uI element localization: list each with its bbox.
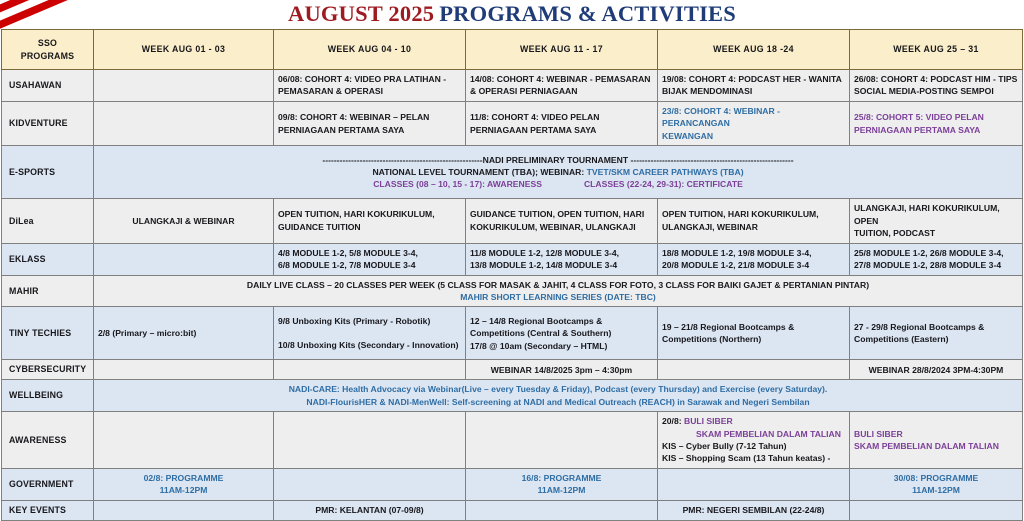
esports-classes-certificate: CLASSES (22-24, 29-31): CERTIFICATE: [584, 178, 743, 190]
cell-government-week1: 02/8: PROGRAMME 11AM-12PM: [94, 468, 274, 500]
cell-key-events-week5: [850, 500, 1023, 520]
cell-key-events-week2: PMR: KELANTAN (07-09/8): [274, 500, 466, 520]
cell-cybersecurity-week3: WEBINAR 14/8/2025 3pm – 4:30pm: [466, 360, 658, 380]
row-label-awareness: AWARENESS: [2, 412, 94, 469]
row-label-dilea: DiLea: [2, 199, 94, 243]
row-label-usahawan: USAHAWAN: [2, 70, 94, 102]
table-row-eklass: EKLASS 4/8 MODULE 1-2, 5/8 MODULE 3-4, 6…: [2, 243, 1023, 275]
page-title-month: AUGUST 2025: [288, 1, 434, 26]
cell-cybersecurity-week4: [658, 360, 850, 380]
wellbeing-nadi-care: NADI-CARE: Health Advocacy via Webinar(L…: [98, 383, 1018, 395]
cell-tiny-techies-week2: 9/8 Unboxing Kits (Primary - Robotik) 10…: [274, 307, 466, 360]
awareness-date-20-8: 20/8:: [662, 416, 684, 426]
cell-eklass-week4: 18/8 MODULE 1-2, 19/8 MODULE 3-4, 20/8 M…: [658, 243, 850, 275]
page-title-suffix: PROGRAMS & ACTIVITIES: [439, 1, 736, 26]
cell-eklass-week1: [94, 243, 274, 275]
cell-awareness-week3: [466, 412, 658, 469]
table-row-tiny-techies: TINY TECHIES 2/8 (Primary – micro:bit) 9…: [2, 307, 1023, 360]
cell-key-events-week1: [94, 500, 274, 520]
cell-usahawan-week3: 14/08: COHORT 4: WEBINAR - PEMASARAN & O…: [466, 70, 658, 102]
cell-awareness-week5: BULI SIBER SKAM PEMBELIAN DALAM TALIAN: [850, 412, 1023, 469]
cell-dilea-week4: OPEN TUITION, HARI KOKURIKULUM, ULANGKAJ…: [658, 199, 850, 243]
cell-tiny-techies-week1: 2/8 (Primary – micro:bit): [94, 307, 274, 360]
table-row-mahir: MAHIR DAILY LIVE CLASS – 20 CLASSES PER …: [2, 275, 1023, 307]
cell-kidventure-week3: 11/8: COHORT 4: VIDEO PELAN PERNIAGAAN P…: [466, 101, 658, 145]
row-label-wellbeing: WELLBEING: [2, 380, 94, 412]
cell-kidventure-week1: [94, 101, 274, 145]
table-row-esports: E-SPORTS -------------------------------…: [2, 146, 1023, 199]
column-header-week-2: WEEK AUG 04 - 10: [274, 30, 466, 70]
table-row-kidventure: KIDVENTURE 09/8: COHORT 4: WEBINAR – PEL…: [2, 101, 1023, 145]
cell-tiny-techies-week3: 12 – 14/8 Regional Bootcamps & Competiti…: [466, 307, 658, 360]
row-label-mahir: MAHIR: [2, 275, 94, 307]
row-label-tiny-techies: TINY TECHIES: [2, 307, 94, 360]
cell-eklass-week3: 11/8 MODULE 1-2, 12/8 MODULE 3-4, 13/8 M…: [466, 243, 658, 275]
page-title-bar: AUGUST 2025PROGRAMS & ACTIVITIES: [0, 0, 1024, 28]
table-row-key-events: KEY EVENTS PMR: KELANTAN (07-09/8) PMR: …: [2, 500, 1023, 520]
cell-key-events-week3: [466, 500, 658, 520]
cell-awareness-week2: [274, 412, 466, 469]
cell-mahir-all-weeks: DAILY LIVE CLASS – 20 CLASSES PER WEEK (…: [94, 275, 1023, 307]
column-header-week-5: WEEK AUG 25 – 31: [850, 30, 1023, 70]
cell-awareness-week1: [94, 412, 274, 469]
awareness-kis-cyber-bully: KIS – Cyber Bully (7-12 Tahun): [662, 440, 845, 452]
table-row-government: GOVERNMENT 02/8: PROGRAMME 11AM-12PM 16/…: [2, 468, 1023, 500]
table-row-cybersecurity: CYBERSECURITY WEBINAR 14/8/2025 3pm – 4:…: [2, 360, 1023, 380]
awareness-buli-siber: BULI SIBER: [684, 416, 733, 426]
table-row-awareness: AWARENESS 20/8: BULI SIBER SKAM PEMBELIA…: [2, 412, 1023, 469]
cell-dilea-week2: OPEN TUITION, HARI KOKURIKULUM, GUIDANCE…: [274, 199, 466, 243]
row-label-cybersecurity: CYBERSECURITY: [2, 360, 94, 380]
schedule-table: SSO PROGRAMS WEEK AUG 01 - 03 WEEK AUG 0…: [1, 29, 1023, 521]
cell-cybersecurity-week5: WEBINAR 28/8/2024 3PM-4:30PM: [850, 360, 1023, 380]
row-label-key-events: KEY EVENTS: [2, 500, 94, 520]
column-header-week-3: WEEK AUG 11 - 17: [466, 30, 658, 70]
cell-eklass-week5: 25/8 MODULE 1-2, 26/8 MODULE 3-4, 27/8 M…: [850, 243, 1023, 275]
cell-usahawan-week5: 26/08: COHORT 4: PODCAST HIM - TIPS SOCI…: [850, 70, 1023, 102]
page-title: AUGUST 2025PROGRAMS & ACTIVITIES: [288, 3, 736, 26]
row-label-kidventure: KIDVENTURE: [2, 101, 94, 145]
column-header-week-4: WEEK AUG 18 -24: [658, 30, 850, 70]
cell-usahawan-week1: [94, 70, 274, 102]
wellbeing-nadi-flourisher: NADI-FlourisHER & NADI-MenWell: Self-scr…: [98, 396, 1018, 408]
cell-dilea-week5: ULANGKAJI, HARI KOKURIKULUM, OPEN TUITIO…: [850, 199, 1023, 243]
table-row-usahawan: USAHAWAN 06/08: COHORT 4: VIDEO PRA LATI…: [2, 70, 1023, 102]
column-header-week-1: WEEK AUG 01 - 03: [94, 30, 274, 70]
cell-government-week3: 16/8: PROGRAMME 11AM-12PM: [466, 468, 658, 500]
cell-wellbeing-all-weeks: NADI-CARE: Health Advocacy via Webinar(L…: [94, 380, 1023, 412]
cell-government-week2: [274, 468, 466, 500]
cell-esports-all-weeks: ----------------------------------------…: [94, 146, 1023, 199]
cell-kidventure-week2: 09/8: COHORT 4: WEBINAR – PELAN PERNIAGA…: [274, 101, 466, 145]
cell-awareness-week4: 20/8: BULI SIBER SKAM PEMBELIAN DALAM TA…: [658, 412, 850, 469]
awareness-skam-pembelian: SKAM PEMBELIAN DALAM TALIAN: [662, 428, 845, 440]
cell-kidventure-week5: 25/8: COHORT 5: VIDEO PELAN PERNIAGAAN P…: [850, 101, 1023, 145]
cell-cybersecurity-week1: [94, 360, 274, 380]
table-header-row: SSO PROGRAMS WEEK AUG 01 - 03 WEEK AUG 0…: [2, 30, 1023, 70]
cell-dilea-week1: ULANGKAJI & WEBINAR: [94, 199, 274, 243]
cell-usahawan-week2: 06/08: COHORT 4: VIDEO PRA LATIHAN - PEM…: [274, 70, 466, 102]
row-label-government: GOVERNMENT: [2, 468, 94, 500]
cell-dilea-week3: GUIDANCE TUITION, OPEN TUITION, HARI KOK…: [466, 199, 658, 243]
cell-eklass-week2: 4/8 MODULE 1-2, 5/8 MODULE 3-4, 6/8 MODU…: [274, 243, 466, 275]
esports-tvet-link: TVET/SKM CAREER PATHWAYS (TBA): [587, 167, 744, 177]
row-label-esports: E-SPORTS: [2, 146, 94, 199]
cell-tiny-techies-week5: 27 - 29/8 Regional Bootcamps & Competiti…: [850, 307, 1023, 360]
table-row-wellbeing: WELLBEING NADI-CARE: Health Advocacy via…: [2, 380, 1023, 412]
column-header-sso-programs: SSO PROGRAMS: [2, 30, 94, 70]
cell-key-events-week4: PMR: NEGERI SEMBILAN (22-24/8): [658, 500, 850, 520]
esports-national-label: NATIONAL LEVEL TOURNAMENT (TBA); WEBINAR…: [372, 167, 586, 177]
calendar-page: AUGUST 2025PROGRAMS & ACTIVITIES SSO PRO…: [0, 0, 1024, 493]
row-label-eklass: EKLASS: [2, 243, 94, 275]
mahir-daily-live-class: DAILY LIVE CLASS – 20 CLASSES PER WEEK (…: [98, 279, 1018, 291]
mahir-short-learning-series: MAHIR SHORT LEARNING SERIES (DATE: TBC): [98, 291, 1018, 303]
cell-government-week4: [658, 468, 850, 500]
table-row-dilea: DiLea ULANGKAJI & WEBINAR OPEN TUITION, …: [2, 199, 1023, 243]
cell-cybersecurity-week2: [274, 360, 466, 380]
cell-tiny-techies-week4: 19 – 21/8 Regional Bootcamps & Competiti…: [658, 307, 850, 360]
cell-usahawan-week4: 19/08: COHORT 4: PODCAST HER - WANITA BI…: [658, 70, 850, 102]
cell-government-week5: 30/08: PROGRAMME 11AM-12PM: [850, 468, 1023, 500]
awareness-kis-shopping-scam: KIS – Shopping Scam (13 Tahun keatas) -: [662, 452, 845, 464]
esports-classes-awareness: CLASSES (08 – 10, 15 - 17): AWARENESS: [373, 178, 542, 190]
cell-kidventure-week4: 23/8: COHORT 4: WEBINAR - PERANCANGAN KE…: [658, 101, 850, 145]
